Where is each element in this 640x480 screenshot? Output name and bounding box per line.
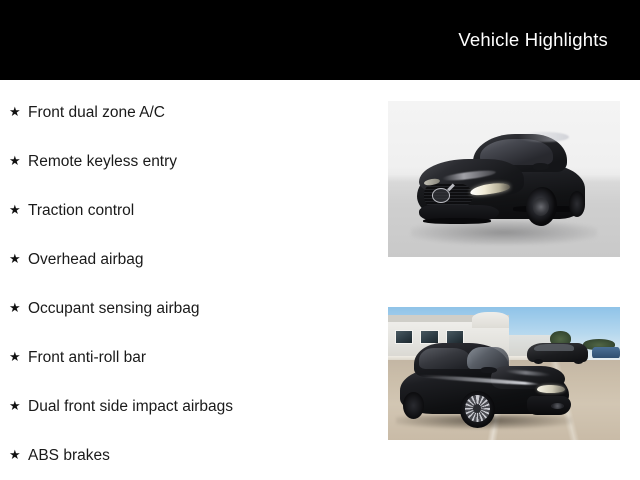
list-item: ★ Remote keyless entry bbox=[0, 137, 380, 186]
photo-lot-content bbox=[388, 307, 620, 440]
slide-vehicle-highlights: Vehicle Highlights ★ Front dual zone A/C… bbox=[0, 0, 640, 480]
building-tower bbox=[472, 312, 509, 328]
list-item: ★ Traction control bbox=[0, 186, 380, 235]
header-bar: Vehicle Highlights bbox=[0, 0, 640, 80]
vehicle-photo-lot bbox=[388, 307, 620, 440]
list-item: ★ Occupant sensing airbag bbox=[0, 284, 380, 333]
list-item-label: Front dual zone A/C bbox=[28, 103, 165, 122]
car-rear-wheel bbox=[403, 392, 424, 418]
car-illustration-front-quarter bbox=[400, 342, 576, 430]
list-item-label: Dual front side impact airbags bbox=[28, 397, 233, 416]
car-fog-light bbox=[551, 403, 563, 409]
vehicle-highlights-list: ★ Front dual zone A/C ★ Remote keyless e… bbox=[0, 88, 380, 480]
list-item: ★ Front anti-roll bar bbox=[0, 333, 380, 382]
car-roofline-highlight bbox=[518, 132, 569, 143]
list-item: ★ Dual front side impact airbags bbox=[0, 382, 380, 431]
car-side-mirror bbox=[481, 367, 497, 373]
list-item-label: Traction control bbox=[28, 201, 134, 220]
list-item: ★ Overhead airbag bbox=[0, 235, 380, 284]
list-item-label: Remote keyless entry bbox=[28, 152, 177, 171]
list-item-label: Occupant sensing airbag bbox=[28, 299, 199, 318]
car-side-window bbox=[419, 348, 472, 369]
list-item-label: ABS brakes bbox=[28, 446, 110, 465]
star-bullet-icon: ★ bbox=[9, 252, 28, 265]
star-bullet-icon: ★ bbox=[9, 350, 28, 363]
car-front-bumper bbox=[527, 396, 571, 415]
car-illustration-front-quarter bbox=[414, 128, 595, 234]
star-bullet-icon: ★ bbox=[9, 399, 28, 412]
list-item-label: Overhead airbag bbox=[28, 250, 143, 269]
star-bullet-icon: ★ bbox=[9, 301, 28, 314]
star-bullet-icon: ★ bbox=[9, 448, 28, 461]
car-front-rim bbox=[465, 395, 490, 422]
background-blue-vehicle bbox=[592, 347, 620, 358]
list-item: ★ ABS brakes bbox=[0, 431, 380, 480]
star-bullet-icon: ★ bbox=[9, 105, 28, 118]
car-rear-wheel bbox=[569, 191, 585, 216]
list-item: ★ Front dual zone A/C bbox=[0, 88, 380, 137]
list-item-label: Front anti-roll bar bbox=[28, 348, 146, 367]
page-title: Vehicle Highlights bbox=[458, 29, 608, 51]
car-side-mirror bbox=[533, 163, 549, 170]
car-front-splitter bbox=[423, 218, 492, 224]
star-bullet-icon: ★ bbox=[9, 154, 28, 167]
star-bullet-icon: ★ bbox=[9, 203, 28, 216]
car-emblem bbox=[432, 188, 450, 203]
photo-studio-content bbox=[388, 101, 620, 257]
vehicle-photo-studio bbox=[388, 101, 620, 257]
